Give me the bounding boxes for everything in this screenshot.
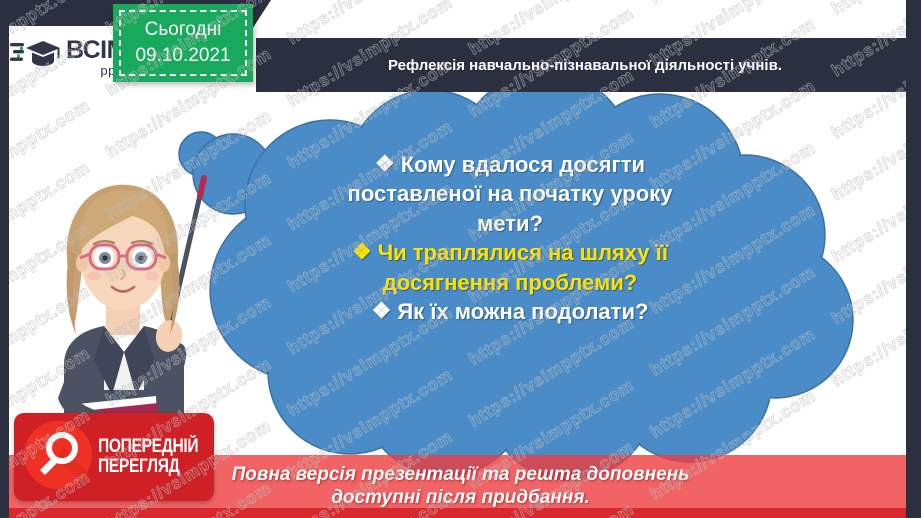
bubble-line-5: досягнення проблеми? — [275, 268, 745, 297]
preview-badge-line-2: ПЕРЕГЛЯД — [98, 456, 179, 477]
bubble-line-1-text: Кому вдалося досягти — [401, 152, 645, 177]
bubble-text-block: ❖Кому вдалося досягти поставленої на поч… — [275, 150, 745, 327]
left-edge-border — [0, 0, 9, 518]
bubble-line-6-text: Як їх можна подолати? — [397, 299, 648, 324]
magnifier-icon — [22, 419, 94, 496]
header-bar: Рефлексія навчально-пізнавальної діяльно… — [256, 38, 914, 92]
bubble-line-3: мети? — [275, 209, 745, 238]
purchase-notice-line-2: доступні після придбання. — [331, 487, 590, 510]
graduation-cap-icon — [10, 37, 62, 78]
page-title: Рефлексія навчально-пізнавальної діяльно… — [376, 57, 794, 74]
date-badge-label: Сьогодні — [145, 17, 222, 43]
teacher-character-illustration — [28, 160, 243, 450]
bullet-diamond-icon: ❖ — [352, 237, 372, 266]
purchase-notice-line-1: Повна версія презентації та решта доповн… — [232, 464, 690, 487]
slide-canvas: Рефлексія навчально-пізнавальної діяльно… — [0, 0, 921, 518]
bubble-line-2: поставленої на початку уроку — [275, 179, 745, 208]
bullet-diamond-icon: ❖ — [375, 149, 395, 178]
preview-badge-line-1: ПОПЕРЕДНІЙ — [98, 436, 198, 457]
right-edge-border — [906, 0, 921, 518]
bubble-line-1: ❖Кому вдалося досягти — [275, 150, 745, 179]
date-badge: Сьогодні 09.10.2021 — [113, 4, 253, 82]
preview-badge[interactable]: ПОПЕРЕДНІЙ ПЕРЕГЛЯД — [14, 413, 214, 501]
bubble-line-6: ❖Як їх можна подолати? — [275, 297, 745, 326]
preview-badge-label: ПОПЕРЕДНІЙ ПЕРЕГЛЯД — [98, 437, 198, 477]
bullet-diamond-icon: ❖ — [372, 296, 392, 325]
bottom-accent-strip — [0, 508, 921, 518]
bubble-line-4: ❖Чи траплялися на шляху її — [275, 238, 745, 267]
date-badge-value: 09.10.2021 — [135, 43, 230, 69]
bubble-line-4-text: Чи траплялися на шляху її — [378, 240, 668, 265]
